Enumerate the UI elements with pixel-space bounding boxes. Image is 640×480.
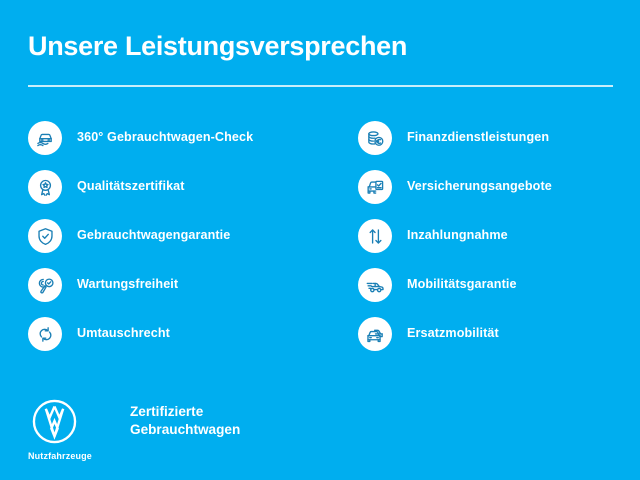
feature-item-umtauschrecht: Umtauschrecht	[28, 317, 328, 366]
feature-label: Gebrauchtwagengarantie	[77, 228, 230, 242]
feature-item-versicherungsangebote: Versicherungsangebote	[358, 170, 640, 219]
shield-check-icon	[28, 219, 62, 253]
coins-euro-icon	[358, 121, 392, 155]
car-checklist-icon	[358, 170, 392, 204]
volkswagen-logo	[31, 398, 78, 445]
footer-headline-line2: Gebrauchtwagen	[130, 421, 240, 439]
exchange-arrows-icon	[28, 317, 62, 351]
feature-item-gebrauchtwagengarantie: Gebrauchtwagengarantie	[28, 219, 328, 268]
feature-label: Ersatzmobilität	[407, 326, 499, 340]
brand-block: Nutzfahrzeuge	[28, 398, 98, 461]
up-down-arrows-icon	[358, 219, 392, 253]
feature-item-qualitaetszertifikat: Qualitätszertifikat	[28, 170, 328, 219]
feature-item-inzahlungnahme: Inzahlungnahme	[358, 219, 640, 268]
brand-subtitle: Nutzfahrzeuge	[28, 451, 98, 461]
feature-label: Versicherungsangebote	[407, 179, 552, 193]
car-motion-icon	[358, 268, 392, 302]
promise-slide: Unsere Leistungsversprechen 360° Gebrauc…	[0, 0, 640, 480]
footer-headline-line1: Zertifizierte	[130, 403, 240, 421]
feature-item-wartungsfreiheit: Wartungsfreiheit	[28, 268, 328, 317]
title-divider	[28, 85, 613, 87]
feature-column-right: Finanzdienstleistungen Versicherungsange…	[358, 121, 640, 366]
feature-label: Finanzdienstleistungen	[407, 130, 549, 144]
feature-label: 360° Gebrauchtwagen-Check	[77, 130, 253, 144]
feature-item-finanzdienstleistungen: Finanzdienstleistungen	[358, 121, 640, 170]
feature-item-gebrauchtwagen-check: 360° Gebrauchtwagen-Check	[28, 121, 328, 170]
car-inspection-icon	[28, 121, 62, 155]
feature-item-mobilitaetsgarantie: Mobilitätsgarantie	[358, 268, 640, 317]
footer: Nutzfahrzeuge Zertifizierte Gebrauchtwag…	[28, 398, 240, 461]
feature-label: Umtauschrecht	[77, 326, 170, 340]
quality-seal-icon	[28, 170, 62, 204]
feature-label: Inzahlungnahme	[407, 228, 508, 242]
feature-label: Wartungsfreiheit	[77, 277, 178, 291]
wrench-check-icon	[28, 268, 62, 302]
footer-headline: Zertifizierte Gebrauchtwagen	[130, 403, 240, 439]
feature-label: Qualitätszertifikat	[77, 179, 185, 193]
feature-column-left: 360° Gebrauchtwagen-Check Qualitätszerti…	[28, 121, 328, 366]
feature-item-ersatzmobilitaet: Ersatzmobilität	[358, 317, 640, 366]
feature-label: Mobilitätsgarantie	[407, 277, 517, 291]
two-cars-icon	[358, 317, 392, 351]
page-title: Unsere Leistungsversprechen	[28, 31, 407, 62]
